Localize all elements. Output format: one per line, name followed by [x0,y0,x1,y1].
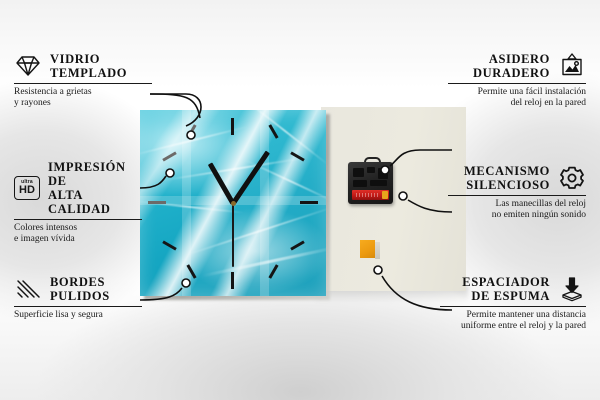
feature-impresion-alta-calidad: ultra HD IMPRESIÓN DE ALTA CALIDAD Color… [14,160,142,245]
clock-tick-4 [290,240,304,250]
foam-spacer-sample [360,240,379,259]
clock-tick-3 [300,201,318,204]
movement-body [348,162,393,204]
feature-asidero-duradero: ASIDERO DURADERO Permite una fácil insta… [448,52,586,109]
arrow-down-layers-icon [558,276,586,302]
clock-movement [348,162,393,204]
clock-second-hand [232,203,234,267]
feature-title: VIDRIO TEMPLADO [50,52,127,80]
clock-face [140,110,326,296]
feature-description: Permite una fácil instalación del reloj … [448,87,586,109]
feature-title: ESPACIADOR DE ESPUMA [462,275,550,303]
infographic-canvas: VIDRIO TEMPLADO Resistencia a grietas y … [0,0,600,400]
feature-title: ASIDERO DURADERO [473,52,550,80]
movement-battery [352,190,389,200]
feature-divider [448,195,586,196]
feature-espaciador-de-espuma: ESPACIADOR DE ESPUMA Permite mantener un… [440,275,586,332]
feature-description: Permite mantener una distancia uniforme … [440,310,586,332]
diamond-icon [14,54,42,78]
feature-description: Resistencia a grietas y rayones [14,87,152,109]
feature-title: BORDES PULIDOS [50,275,110,303]
feature-description: Colores intensos e imagen vívida [14,223,142,245]
picture-frame-icon [558,53,586,79]
product-illustration [126,100,466,315]
gear-icon [558,165,586,191]
wall-clock [140,110,326,296]
clock-tick-10 [162,151,176,161]
feature-description: Superficie lisa y segura [14,310,142,321]
feature-divider [14,219,142,220]
feature-bordes-pulidos: BORDES PULIDOS Superficie lisa y segura [14,275,142,321]
ultra-hd-main-label: HD [19,185,35,196]
clock-tick-9 [148,201,166,204]
feature-divider [14,83,152,84]
wall-panel [321,107,466,291]
feature-divider [14,306,142,307]
feature-title: IMPRESIÓN DE ALTA CALIDAD [48,160,142,216]
feature-divider [440,306,586,307]
feature-description: Las manecillas del reloj no emiten ningú… [448,199,586,221]
clock-center-cap [231,201,236,206]
clock-tick-5 [268,264,278,278]
diagonal-lines-icon [14,277,42,301]
clock-tick-12 [231,118,234,135]
clock-tick-6 [231,272,234,289]
feature-title: MECANISMO SILENCIOSO [464,164,550,192]
feature-mecanismo-silencioso: MECANISMO SILENCIOSO Las manecillas del … [448,164,586,221]
ultra-hd-icon: ultra HD [14,176,40,200]
clock-tick-8 [162,240,176,250]
feature-divider [448,83,586,84]
feature-vidrio-templado: VIDRIO TEMPLADO Resistencia a grietas y … [14,52,152,109]
